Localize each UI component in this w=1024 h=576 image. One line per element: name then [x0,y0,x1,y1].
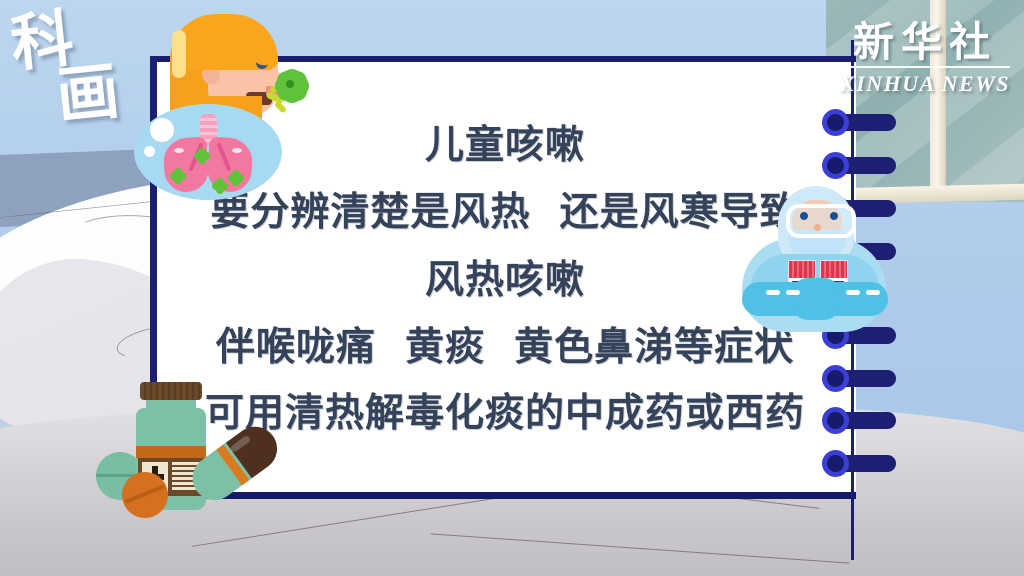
lung-highlight [232,148,242,153]
sleeve-stripe [846,290,860,295]
bubble-highlight [150,118,174,142]
orange-tablet [122,472,168,518]
child-hair-highlight [172,30,186,78]
infected-lungs-illustration [134,104,282,200]
program-logo-char-2: 画 [54,62,124,125]
medicine-bottle-band [136,446,206,458]
worker-goggles [786,204,856,238]
network-logo-divider [840,66,1010,68]
sleeve-stripe [786,290,800,295]
program-logo: 科 画 [8,5,123,129]
medicine-bottle-cap [140,382,202,400]
cough-droplet [274,100,287,114]
virus-particle-icon [196,150,208,162]
sleeve-stripe [766,290,780,295]
virus-particle-icon [278,72,306,100]
worker-nose [814,224,821,231]
lung-highlight [174,148,184,153]
sleeve-stripe [866,290,880,295]
network-logo-english: XINHUA NEWS [834,71,1016,97]
badge-red-stripe [821,261,847,278]
medical-worker-illustration [740,186,890,338]
network-logo-chinese: 新华社 [834,22,1016,63]
worker-eye [800,212,808,220]
badge-red-stripe [789,261,815,278]
worker-eye [830,212,838,220]
virus-particle-icon [172,170,184,182]
medicine-illustration [96,382,276,522]
virus-particle-icon [230,172,242,184]
network-logo: 新华社 XINHUA NEWS [834,22,1016,97]
virus-particle-icon [214,180,226,192]
bubble-highlight [144,146,155,157]
spiral-binding-ring [828,455,896,472]
video-frame: 儿童咳嗽 要分辨清楚是风热 还是风寒导致 风热咳嗽 伴喉咙痛 黄痰 黄色鼻涕等症… [0,0,1024,576]
worker-hands [792,278,840,320]
